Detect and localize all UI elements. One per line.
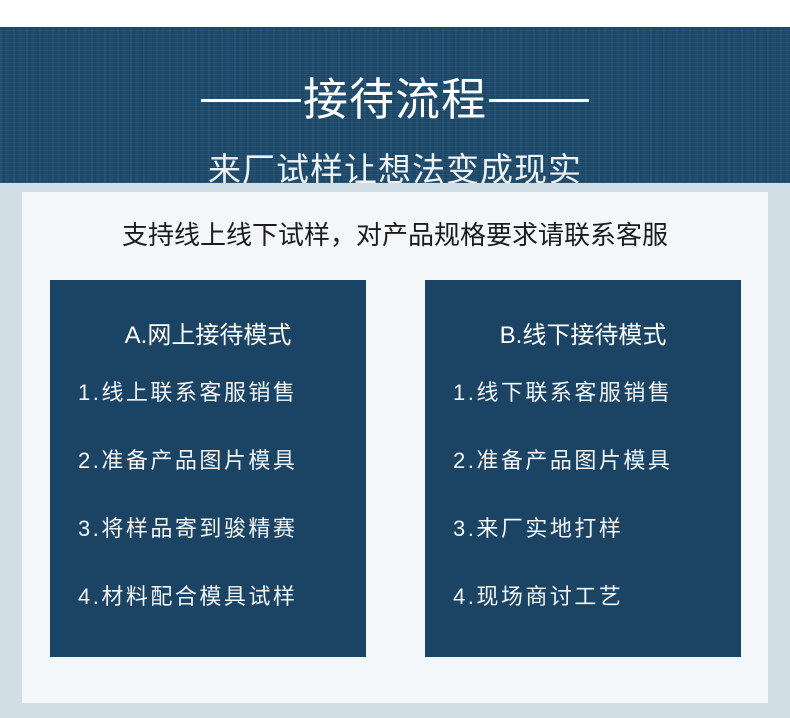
card-title: A.网上接待模式 xyxy=(50,320,366,352)
header-banner: 接待流程 来厂试样让想法变成现实 xyxy=(0,27,790,183)
page-title: 接待流程 xyxy=(301,72,489,128)
list-item: 4.材料配合模具试样 xyxy=(50,582,366,650)
card-offline-reception: B.线下接待模式 1.线下联系客服销售 2.准备产品图片模具 3.来厂实地打样 … xyxy=(425,280,741,657)
card-online-reception: A.网上接待模式 1.线上联系客服销售 2.准备产品图片模具 3.将样品寄到骏精… xyxy=(50,280,366,657)
list-item: 3.将样品寄到骏精赛 xyxy=(50,514,366,582)
list-item: 3.来厂实地打样 xyxy=(425,514,741,582)
list-item: 2.准备产品图片模具 xyxy=(50,446,366,514)
card-step-list: 1.线下联系客服销售 2.准备产品图片模具 3.来厂实地打样 4.现场商讨工艺 xyxy=(425,378,741,650)
title-rule-right-icon xyxy=(489,99,589,102)
card-title: B.线下接待模式 xyxy=(425,320,741,352)
list-item: 1.线上联系客服销售 xyxy=(50,378,366,446)
panel-lead-text: 支持线上线下试样，对产品规格要求请联系客服 xyxy=(22,215,768,255)
list-item: 4.现场商讨工艺 xyxy=(425,582,741,650)
list-item: 1.线下联系客服销售 xyxy=(425,378,741,446)
banner-title-row: 接待流程 xyxy=(0,69,790,131)
list-item: 2.准备产品图片模具 xyxy=(425,446,741,514)
page-subtitle: 来厂试样让想法变成现实 xyxy=(0,148,790,183)
promo-page: 接待流程 来厂试样让想法变成现实 支持线上线下试样，对产品规格要求请联系客服 A… xyxy=(0,0,790,718)
card-step-list: 1.线上联系客服销售 2.准备产品图片模具 3.将样品寄到骏精赛 4.材料配合模… xyxy=(50,378,366,650)
title-rule-left-icon xyxy=(201,99,301,102)
